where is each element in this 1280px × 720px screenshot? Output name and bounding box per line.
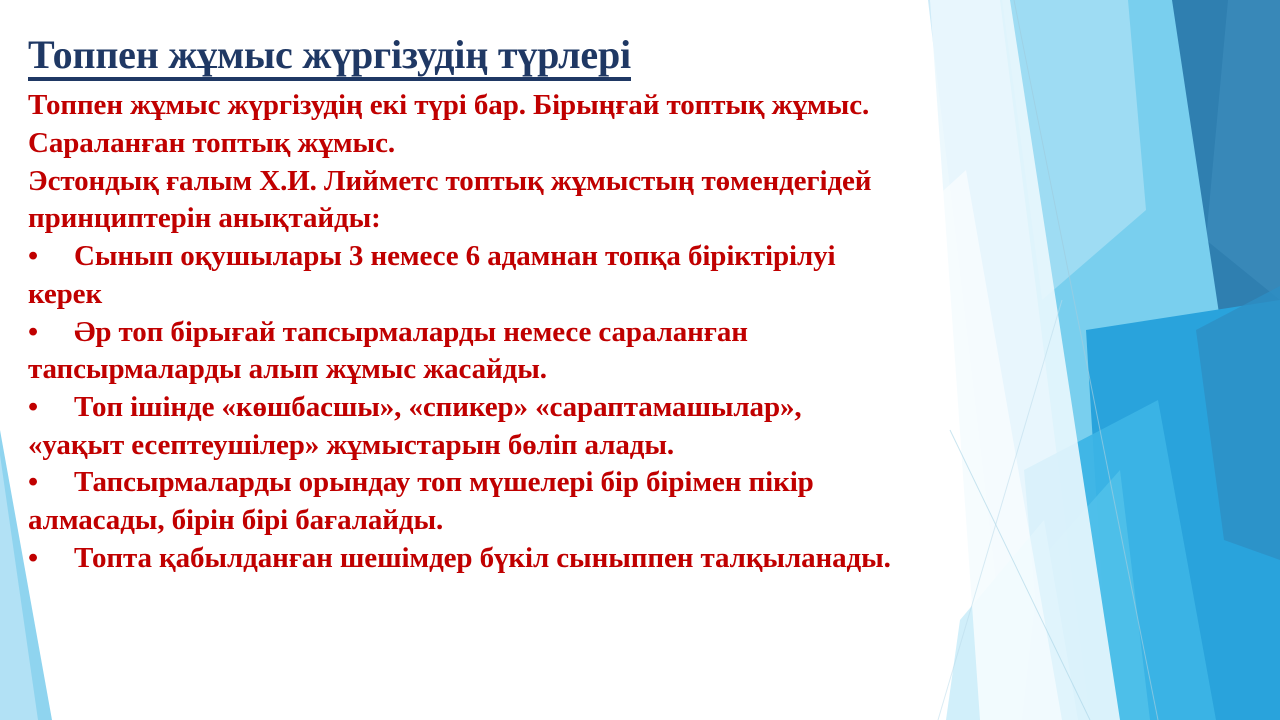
bullet-icon: • bbox=[28, 464, 74, 502]
list-item: • Сынып оқушылары 3 немесе 6 адамнан топ… bbox=[28, 238, 1252, 276]
list-item: • Әр топ бірығай тапсырмаларды немесе са… bbox=[28, 314, 1252, 352]
bullet-icon: • bbox=[28, 540, 74, 578]
list-item-continuation: тапсырмаларды алып жұмыс жасайды. bbox=[28, 351, 1252, 389]
bullet-icon: • bbox=[28, 389, 74, 427]
bullet-icon: • bbox=[28, 238, 74, 276]
list-item: • Топта қабылданған шешімдер бүкіл сынып… bbox=[28, 540, 1252, 578]
presentation-slide: Топпен жұмыс жүргізудің түрлері Топпен ж… bbox=[0, 0, 1280, 720]
page-title: Топпен жұмыс жүргізудің түрлері bbox=[28, 34, 631, 81]
list-item-label: Әр топ бірығай тапсырмаларды немесе сара… bbox=[74, 314, 748, 352]
list-item-label: Топ ішінде «көшбасшы», «спикер» «сарапта… bbox=[74, 389, 802, 427]
list-item: • Топ ішінде «көшбасшы», «спикер» «сарап… bbox=[28, 389, 1252, 427]
list-item-label: Топта қабылданған шешімдер бүкіл сыныппе… bbox=[74, 540, 891, 578]
body-line: Эстондық ғалым Х.И. Лийметс топтық жұмыс… bbox=[28, 163, 1252, 201]
bullet-icon: • bbox=[28, 314, 74, 352]
body-line: Сараланған топтық жұмыс. bbox=[28, 125, 1252, 163]
list-item-continuation: алмасады, бірін бірі бағалайды. bbox=[28, 502, 1252, 540]
body-line: принциптерін анықтайды: bbox=[28, 200, 1252, 238]
slide-body: Топпен жұмыс жүргізудің екі түрі бар. Бі… bbox=[28, 87, 1252, 577]
list-item-label: Сынып оқушылары 3 немесе 6 адамнан топқа… bbox=[74, 238, 836, 276]
list-item-label: Тапсырмаларды орындау топ мүшелері бір б… bbox=[74, 464, 814, 502]
slide-content: Топпен жұмыс жүргізудің түрлері Топпен ж… bbox=[0, 0, 1252, 577]
list-item-continuation: «уақыт есептеушілер» жұмыстарын бөліп ал… bbox=[28, 427, 1252, 465]
body-line: Топпен жұмыс жүргізудің екі түрі бар. Бі… bbox=[28, 87, 1252, 125]
list-item-continuation: керек bbox=[28, 276, 1252, 314]
list-item: • Тапсырмаларды орындау топ мүшелері бір… bbox=[28, 464, 1252, 502]
